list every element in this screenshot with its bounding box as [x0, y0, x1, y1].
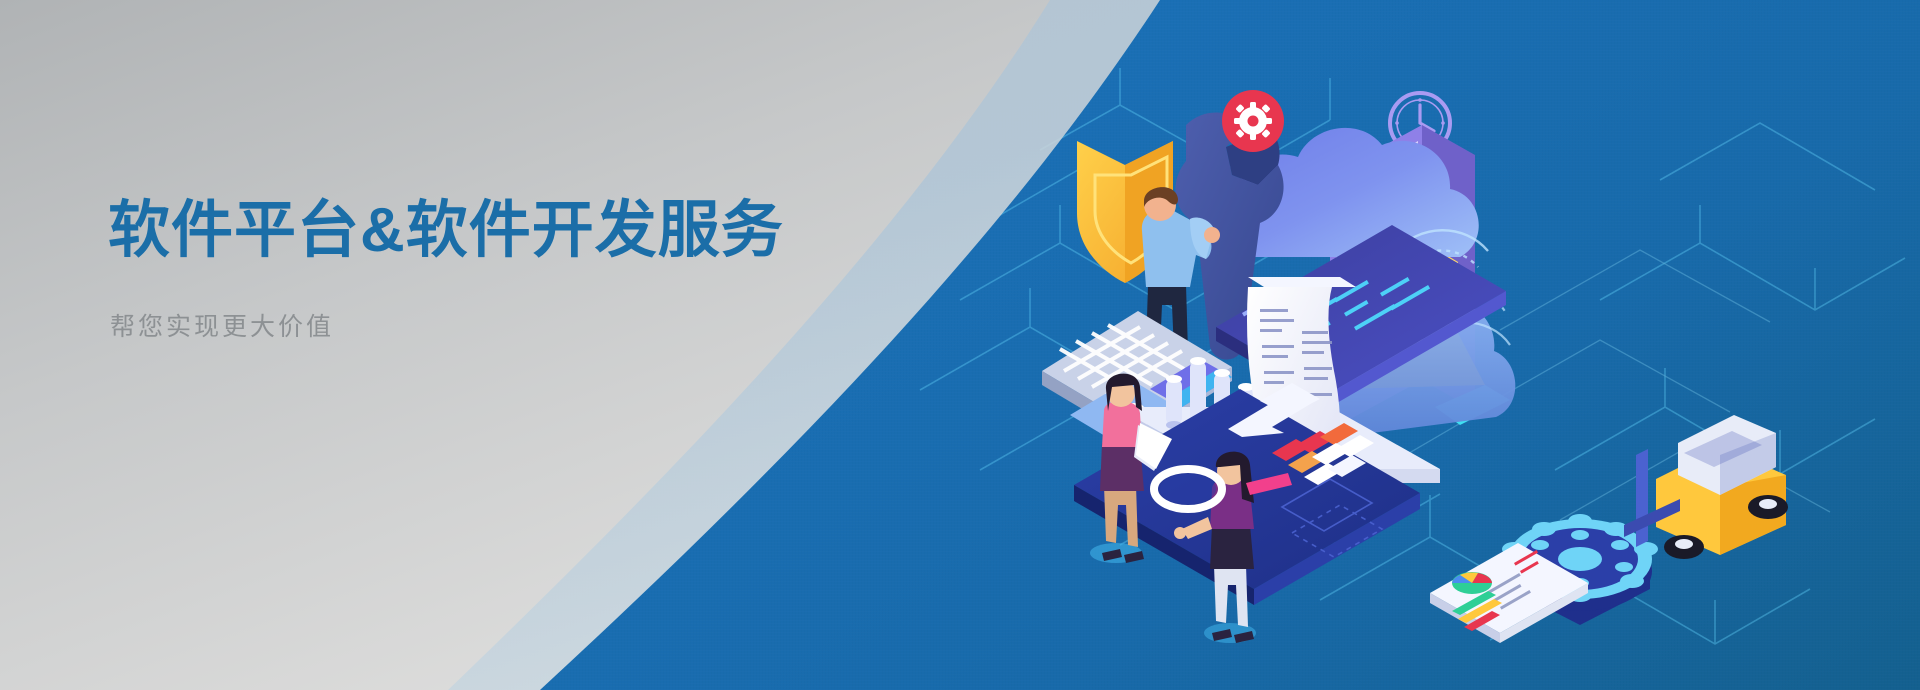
page-subtitle: 帮您实现更大价值	[110, 307, 868, 343]
hero-banner: 软件平台&软件开发服务 帮您实现更大价值	[0, 0, 1920, 690]
banner-copy: 软件平台&软件开发服务 帮您实现更大价值	[108, 196, 868, 343]
page-title: 软件平台&软件开发服务	[108, 196, 868, 265]
gray-curve-panel	[0, 0, 1920, 690]
